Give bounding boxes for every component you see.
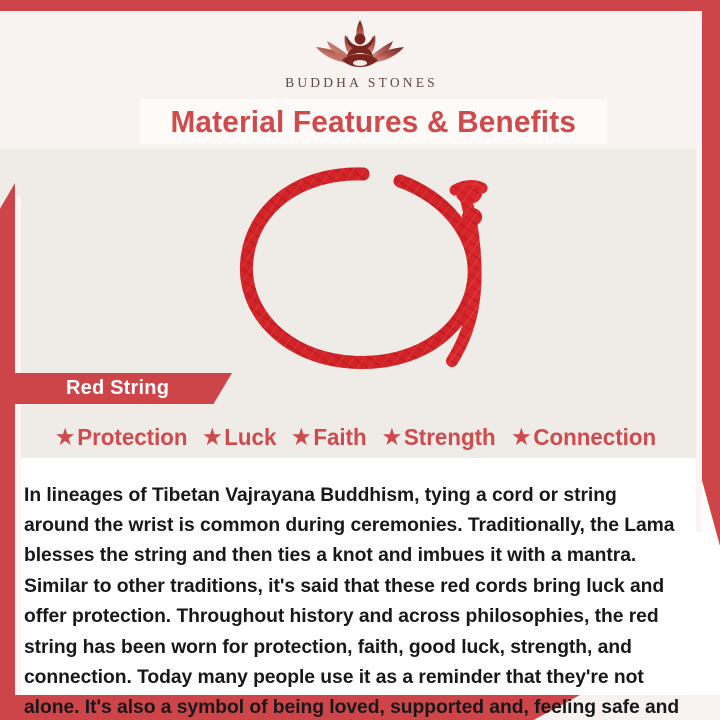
benefit-faith: ★ Faith xyxy=(292,424,366,451)
page-title-banner: Material Features & Benefits xyxy=(140,99,607,144)
benefit-label: Protection xyxy=(77,424,187,451)
brand-name: BUDDHA STONES xyxy=(0,75,720,91)
star-icon: ★ xyxy=(382,427,400,448)
star-icon: ★ xyxy=(292,427,310,448)
star-icon: ★ xyxy=(512,427,530,448)
benefit-protection: ★ Protection xyxy=(56,424,187,451)
benefit-luck: ★ Luck xyxy=(203,424,276,451)
benefit-label: Faith xyxy=(313,424,366,451)
product-image xyxy=(0,149,720,373)
red-string-bracelet-illustration xyxy=(0,149,720,373)
page-title: Material Features & Benefits xyxy=(171,104,577,140)
benefit-label: Luck xyxy=(225,424,277,451)
benefit-strength: ★ Strength xyxy=(382,424,495,451)
benefit-connection: ★ Connection xyxy=(512,424,656,451)
decorative-top-red-bar xyxy=(0,0,720,11)
brand-logo: BUDDHA STONES xyxy=(0,17,720,91)
lotus-meditation-icon xyxy=(301,17,419,73)
star-icon: ★ xyxy=(56,427,74,448)
star-icon: ★ xyxy=(203,427,221,448)
benefits-row: ★ Protection ★ Luck ★ Faith ★ Strength ★… xyxy=(21,420,691,454)
infographic-page: BUDDHA STONES Material Features & Benefi… xyxy=(0,0,720,720)
product-label: Red String xyxy=(66,377,169,400)
benefit-label: Strength xyxy=(403,424,495,451)
description-paragraph: In lineages of Tibetan Vajrayana Buddhis… xyxy=(24,480,682,720)
benefit-label: Connection xyxy=(533,424,656,451)
